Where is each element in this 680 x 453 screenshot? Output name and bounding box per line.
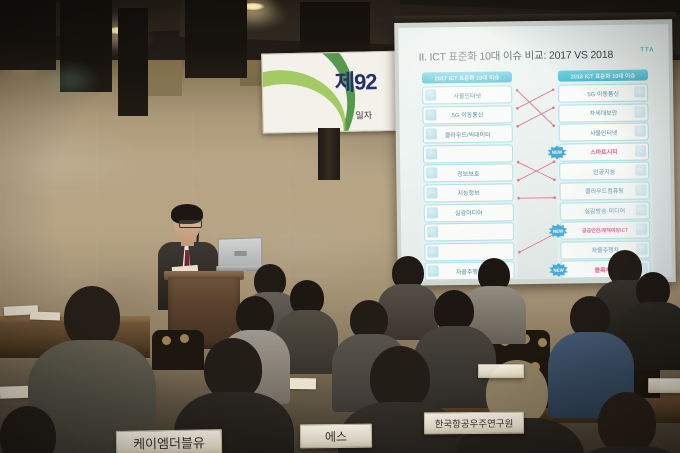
item-icon <box>426 148 437 159</box>
slide-item-label: 실감방송·미디어 <box>584 206 625 216</box>
nameplate-label: 케이엠더블유 <box>133 432 205 452</box>
item-icon <box>428 266 439 277</box>
column-header-2017: 2017 ICT 표준화 10대 이슈 <box>422 71 512 83</box>
slide-item-left: 지능정보 <box>423 183 513 202</box>
slide-item-left: 클라우드/빅데이터 <box>423 124 513 143</box>
slide-item-right: 차세대보안 <box>558 103 648 122</box>
item-icon <box>426 187 437 198</box>
item-icon <box>636 243 647 254</box>
projection-screen-surface: II. ICT 표준화 10대 이슈 비교: 2017 VS 2018 TTA <box>398 24 672 281</box>
slide-item-left <box>424 222 514 241</box>
chair-ornament <box>538 338 547 347</box>
nameplate <box>478 364 524 378</box>
item-icon <box>635 126 646 137</box>
conference-photo: 제92 일자 II. ICT 표준화 10대 이슈 비교: 2017 VS 20… <box>0 0 680 453</box>
item-icon <box>427 207 438 218</box>
chair-ornament <box>180 334 189 343</box>
slide-item-label: 클라우드/빅데이터 <box>445 129 491 139</box>
slide-item-label: 5G 이동통신 <box>452 110 484 119</box>
slide-item-left: 정보보호 <box>423 164 513 183</box>
slide-item-left <box>423 144 513 163</box>
slide-item-right: 실감방송·미디어 <box>560 201 650 220</box>
new-badge: NEW <box>547 145 567 159</box>
slide-item-left: 실감미디어 <box>424 203 514 222</box>
slide-item-label: 정보보호 <box>457 169 479 178</box>
slide-item-label: 스마트시티 <box>590 147 618 156</box>
slide-column-2017: 2017 ICT 표준화 10대 이슈 사물인터넷 5G 이동통신 클라우드/빅… <box>419 68 518 281</box>
item-icon <box>635 184 646 195</box>
event-banner: 제92 일자 <box>261 50 415 133</box>
slide-item-left <box>424 242 514 261</box>
slide-item-label: 5G 이동통신 <box>587 88 619 97</box>
nameplate-label: 한국항공우주연구원 <box>435 416 514 431</box>
item-icon <box>636 204 647 215</box>
slide-item-label: 클라우드컴퓨팅 <box>585 186 624 196</box>
projection-screen: II. ICT 표준화 10대 이슈 비교: 2017 VS 2018 TTA <box>394 19 676 286</box>
slide-item-label: 공공안전/재해예방ICT <box>582 226 628 234</box>
item-icon <box>427 246 438 257</box>
slide-item-right: NEW스마트시티 <box>559 142 649 161</box>
item-icon <box>426 168 437 179</box>
item-icon <box>425 109 436 120</box>
slide-title: II. ICT 표준화 10대 이슈 비교: 2017 VS 2018 <box>419 47 614 65</box>
person-head <box>204 338 262 400</box>
item-icon <box>634 86 645 97</box>
slide-item-label: 인공지능 <box>593 167 615 176</box>
person-head <box>598 392 656 453</box>
slide-item-label: 실감미디어 <box>455 208 483 217</box>
wall-pillar <box>185 0 247 78</box>
slide-item-left: 사물인터넷 <box>422 85 512 104</box>
slide-item-left: 5G 이동통신 <box>422 105 512 124</box>
new-badge: NEW <box>549 263 569 277</box>
slide-item-right: 5G 이동통신 <box>558 83 648 102</box>
item-icon <box>636 224 647 235</box>
column-header-2018: 2018 ICT 표준화 10대 이슈 <box>558 69 648 81</box>
nameplate: 에스 <box>300 424 372 449</box>
chair-ornament <box>162 336 171 345</box>
slide-item-right: 사물인터넷 <box>559 123 649 142</box>
wall-pillar <box>0 0 56 70</box>
document <box>30 311 60 320</box>
nameplate: 케이엠더블유 <box>116 429 222 453</box>
banner-title: 제92 <box>334 64 376 97</box>
item-icon <box>635 145 646 156</box>
item-icon <box>427 227 438 238</box>
slide-column-2018: 2018 ICT 표준화 10대 이슈 5G 이동통신 차세대보안 사물인터넷 … <box>555 66 654 280</box>
tta-logo: TTA <box>640 47 654 53</box>
wall-pillar <box>118 8 148 116</box>
person-head <box>370 346 430 410</box>
nameplate-label: 에스 <box>325 427 347 444</box>
item-icon <box>634 106 645 117</box>
person-head <box>64 286 120 348</box>
slide-item-label: 사물인터넷 <box>590 128 618 137</box>
laptop-logo <box>234 251 247 256</box>
item-icon <box>426 129 437 140</box>
nameplate <box>648 378 680 393</box>
glasses-icon <box>179 220 202 228</box>
chair-back <box>152 330 204 370</box>
slide-item-right: NEW공공안전/재해예방ICT <box>560 221 650 240</box>
banner-subtitle: 일자 <box>355 108 372 121</box>
banner-stand <box>318 128 340 180</box>
slide-item-right: 인공지능 <box>559 162 649 181</box>
slide-item-label: 지능정보 <box>457 188 479 197</box>
slide-item-label: 사물인터넷 <box>453 90 481 99</box>
item-icon <box>635 165 646 176</box>
slide-item-right: 클라우드컴퓨팅 <box>559 181 649 200</box>
new-badge: NEW <box>548 224 568 238</box>
slide-item-label: 차세대보안 <box>590 108 618 117</box>
presentation-slide: II. ICT 표준화 10대 이슈 비교: 2017 VS 2018 TTA <box>412 42 659 263</box>
item-icon <box>425 89 436 100</box>
nameplate: 한국항공우주연구원 <box>424 412 524 435</box>
